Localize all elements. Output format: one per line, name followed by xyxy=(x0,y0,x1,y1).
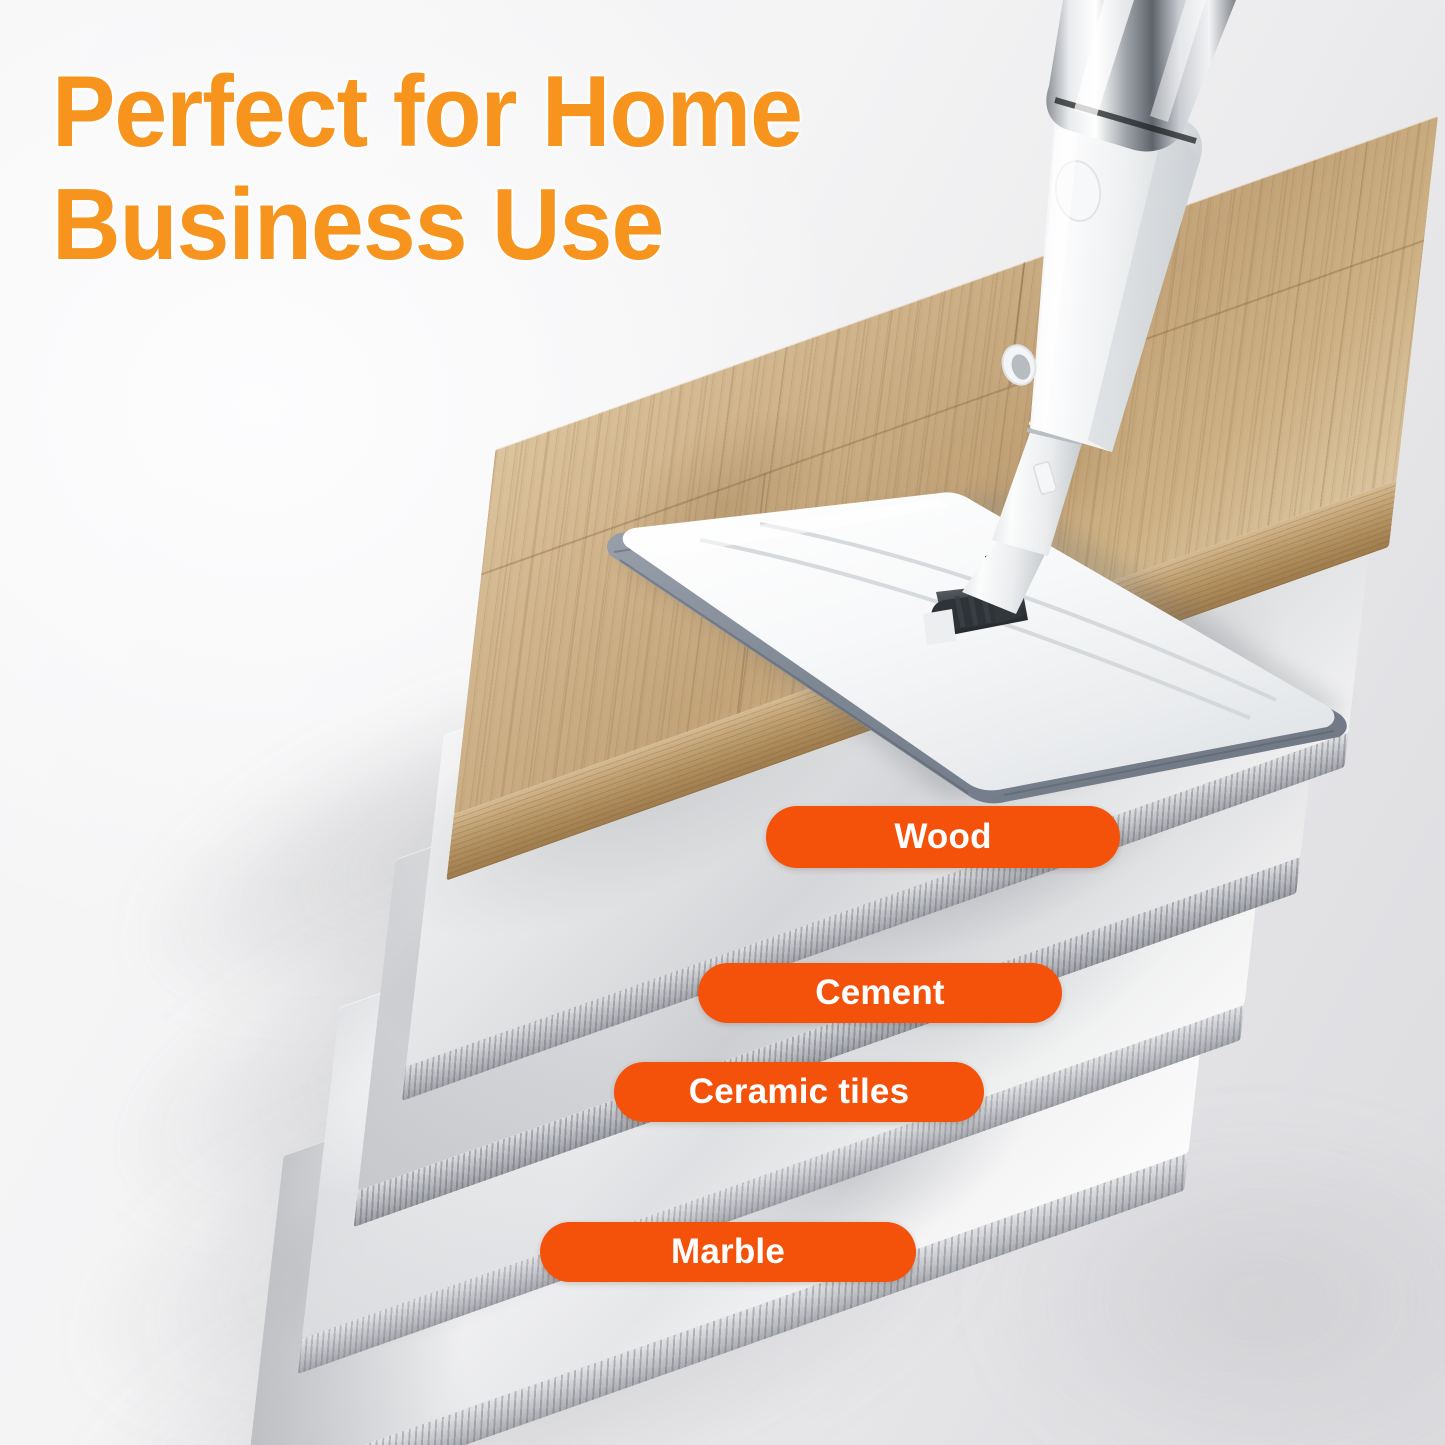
wood-plank-seam xyxy=(737,473,766,715)
surface-label-marble-text: Marble xyxy=(671,1232,785,1272)
surface-label-ceramic-text: Ceramic tiles xyxy=(689,1072,910,1112)
chrome-pole-dark-seam xyxy=(1055,100,1196,141)
chrome-pole-highlight xyxy=(1074,0,1134,118)
surface-label-marble: Marble xyxy=(540,1222,916,1282)
promo-banner: Wood Cement Ceramic tiles Marble Perfect… xyxy=(0,0,1445,1445)
surface-label-cement-text: Cement xyxy=(815,973,945,1013)
surface-label-ceramic: Ceramic tiles xyxy=(614,1062,984,1122)
wood-plank-seam xyxy=(1009,262,1025,386)
headline: Perfect for Home Business Use xyxy=(52,56,802,282)
surface-label-cement: Cement xyxy=(698,963,1062,1023)
grip-thumb-bump xyxy=(1052,158,1104,224)
surface-label-wood: Wood xyxy=(766,806,1120,868)
headline-line-1: Perfect for Home xyxy=(52,56,802,169)
chrome-pole xyxy=(1046,0,1236,151)
surface-label-wood-text: Wood xyxy=(894,817,991,857)
headline-line-2: Business Use xyxy=(52,169,802,282)
